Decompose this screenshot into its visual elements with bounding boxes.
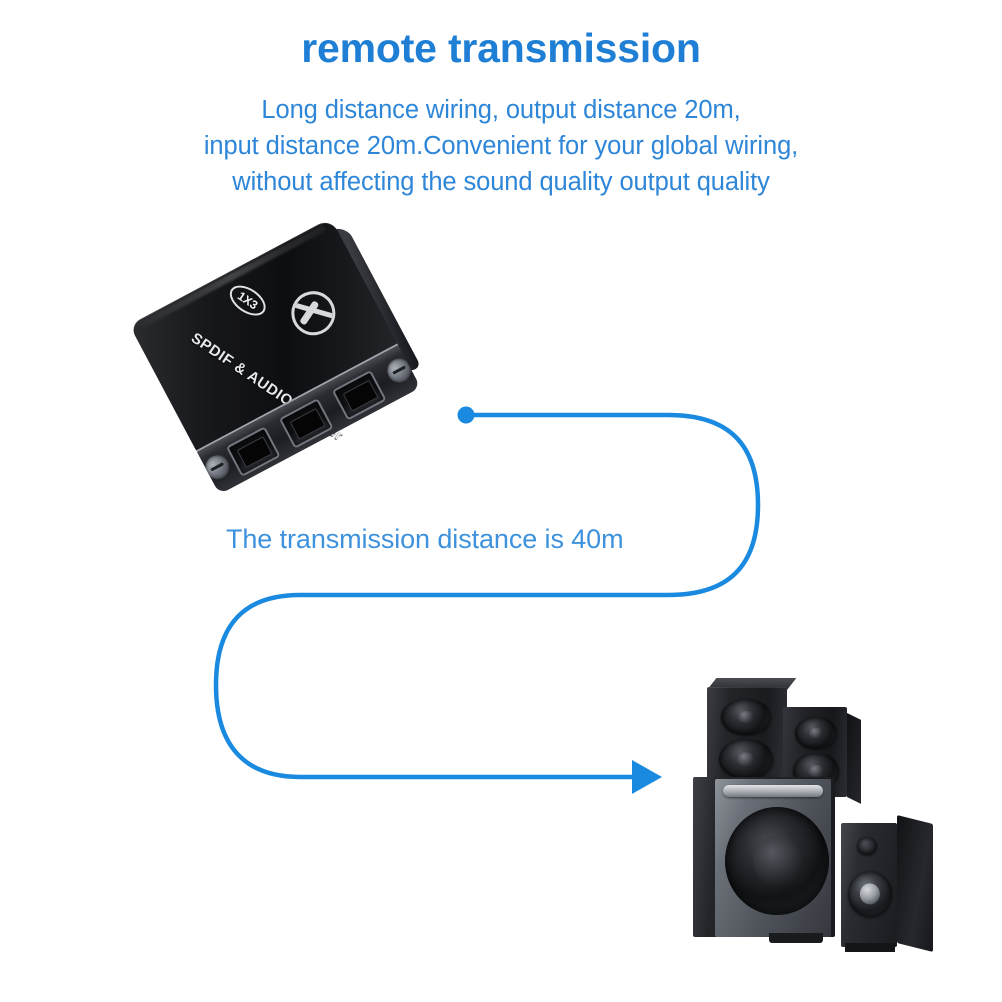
optical-port-1[interactable] [226, 426, 281, 477]
splitter-screw-left [201, 451, 233, 483]
description-line-1: Long distance wiring, output distance 20… [0, 92, 1002, 128]
optical-port-3[interactable] [332, 370, 387, 421]
satellite-speaker-driver [848, 871, 892, 917]
spdif-audio-splitter-device: 1X3 SPDIF & AUDIO Splitter [132, 232, 422, 500]
cable-start-dot [458, 407, 475, 424]
satellite-speaker-side [897, 815, 933, 952]
bookshelf-speaker-left [707, 687, 787, 785]
bookshelf-speaker-right-side [847, 713, 861, 804]
optical-port-2[interactable] [279, 398, 334, 449]
satellite-speaker-tweeter [857, 837, 877, 855]
description-line-3: without affecting the sound quality outp… [0, 164, 1002, 200]
usb-circle-logo-icon [283, 283, 344, 344]
satellite-speaker-base [845, 943, 895, 952]
splitter-body: 1X3 SPDIF & AUDIO Splitter [129, 218, 422, 498]
description-block: Long distance wiring, output distance 20… [0, 92, 1002, 201]
subwoofer-driver [725, 807, 829, 915]
bookshelf-left-woofer [719, 739, 773, 779]
cable-arrow-head [632, 760, 662, 794]
page-title: remote transmission [0, 27, 1002, 70]
description-line-2: input distance 20m.Convenient for your g… [0, 128, 1002, 164]
product-infographic: remote transmission Long distance wiring… [0, 0, 1002, 1002]
subwoofer-trim-bar [723, 785, 823, 797]
bookshelf-left-tweeter [721, 699, 771, 735]
bookshelf-right-tweeter [795, 717, 837, 749]
transmission-distance-label: The transmission distance is 40m [226, 524, 623, 555]
speaker-system [685, 665, 990, 965]
subwoofer-base [769, 933, 823, 943]
splitter-channel-badge: 1X3 [224, 279, 271, 321]
